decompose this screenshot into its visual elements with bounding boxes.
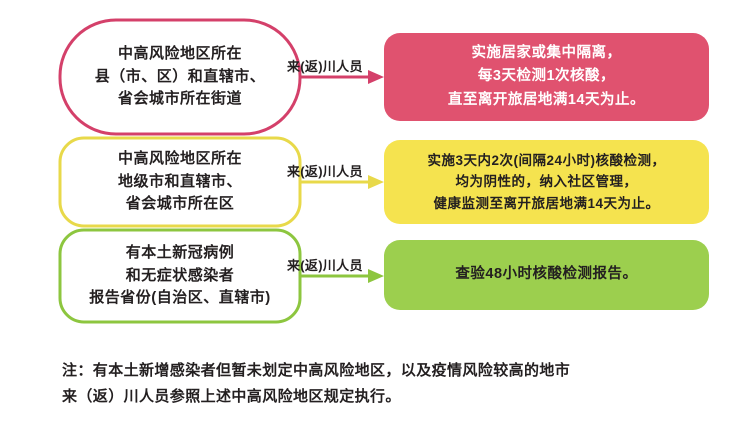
risk-area-node-0: 中高风险地区所在 县（市、区）和直辖市、 省会城市所在街道 <box>58 18 302 136</box>
risk-area-node-0-text: 中高风险地区所在 县（市、区）和直辖市、 省会城市所在街道 <box>95 43 266 111</box>
risk-area-node-1: 中高风险地区所在 地级市和直辖市、 省会城市所在区 <box>58 136 302 228</box>
measure-node-2: 查验48小时核酸检测报告。 <box>384 240 709 310</box>
footnote: 注：有本土新增感染者但暂未划定中高风险地区，以及疫情风险较高的地市 来（返）川人… <box>62 358 682 411</box>
risk-area-node-1-text: 中高风险地区所在 地级市和直辖市、 省会城市所在区 <box>118 148 242 216</box>
measure-node-1-text: 实施3天内2次(间隔24小时)核酸检测， 均为阴性的，纳入社区管理， 健康监测至… <box>427 150 665 215</box>
risk-area-node-2-text: 有本土新冠病例 和无症状感染者 报告省份(自治区、直辖市) <box>89 242 271 310</box>
risk-area-node-2: 有本土新冠病例 和无症状感染者 报告省份(自治区、直辖市) <box>58 228 302 324</box>
measure-node-1: 实施3天内2次(间隔24小时)核酸检测， 均为阴性的，纳入社区管理， 健康监测至… <box>384 140 709 224</box>
arrow-label-1: 来(返)川人员 <box>287 161 363 180</box>
measure-node-2-text: 查验48小时核酸检测报告。 <box>455 263 637 286</box>
arrow-label-0: 来(返)川人员 <box>287 56 363 75</box>
diagram-canvas: 中高风险地区所在 县（市、区）和直辖市、 省会城市所在街道 中高风险地区所在 地… <box>0 0 739 424</box>
measure-node-0-text: 实施居家或集中隔离， 每3天检测1次核酸， 直至离开旅居地满14天为止。 <box>448 42 645 112</box>
arrow-label-2: 来(返)川人员 <box>287 255 363 274</box>
measure-node-0: 实施居家或集中隔离， 每3天检测1次核酸， 直至离开旅居地满14天为止。 <box>384 33 709 121</box>
